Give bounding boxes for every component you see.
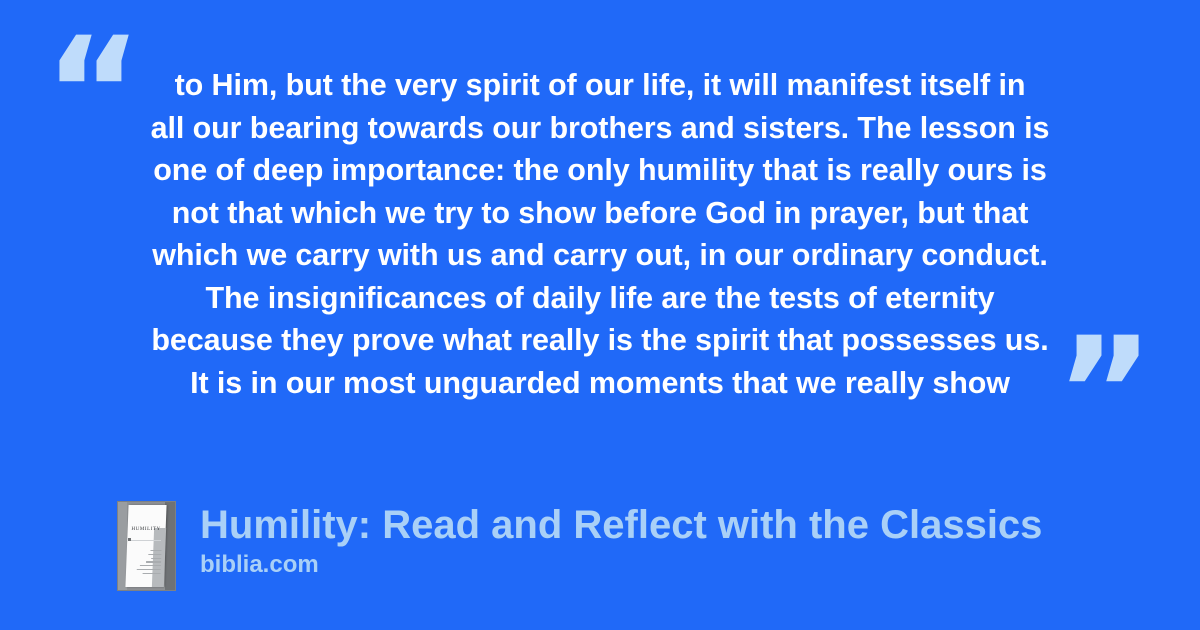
book-title: Humility: Read and Reflect with the Clas… — [200, 502, 1042, 549]
book-cover-rule — [130, 540, 161, 541]
quote-line: because they prove what really is the sp… — [100, 319, 1100, 362]
book-cover-title: HUMILITY — [129, 526, 163, 532]
quote-line: all our bearing towards our brothers and… — [100, 107, 1100, 150]
quote-text-block: to Him, but the very spirit of our life,… — [100, 64, 1100, 404]
quote-line: The insignificances of daily life are th… — [100, 277, 1100, 320]
quote-line: It is in our most unguarded moments that… — [100, 362, 1100, 405]
book-cover-text-lines — [133, 550, 161, 576]
footer-text-block: Humility: Read and Reflect with the Clas… — [200, 502, 1042, 579]
site-name: biblia.com — [200, 551, 1042, 579]
quote-line: not that which we try to show before God… — [100, 192, 1100, 235]
closing-quote-icon: ” — [1055, 318, 1154, 468]
footer: HUMILITY Humility: Read and Reflect with… — [118, 502, 1042, 590]
book-cover-thumbnail: HUMILITY — [118, 502, 175, 590]
quote-card: “ to Him, but the very spirit of our lif… — [0, 0, 1200, 630]
book-spine-right — [165, 502, 175, 590]
book-cover-mark — [128, 538, 131, 541]
quote-line: one of deep importance: the only humilit… — [100, 149, 1100, 192]
quote-line: to Him, but the very spirit of our life,… — [100, 64, 1100, 107]
quote-line: which we carry with us and carry out, in… — [100, 234, 1100, 277]
